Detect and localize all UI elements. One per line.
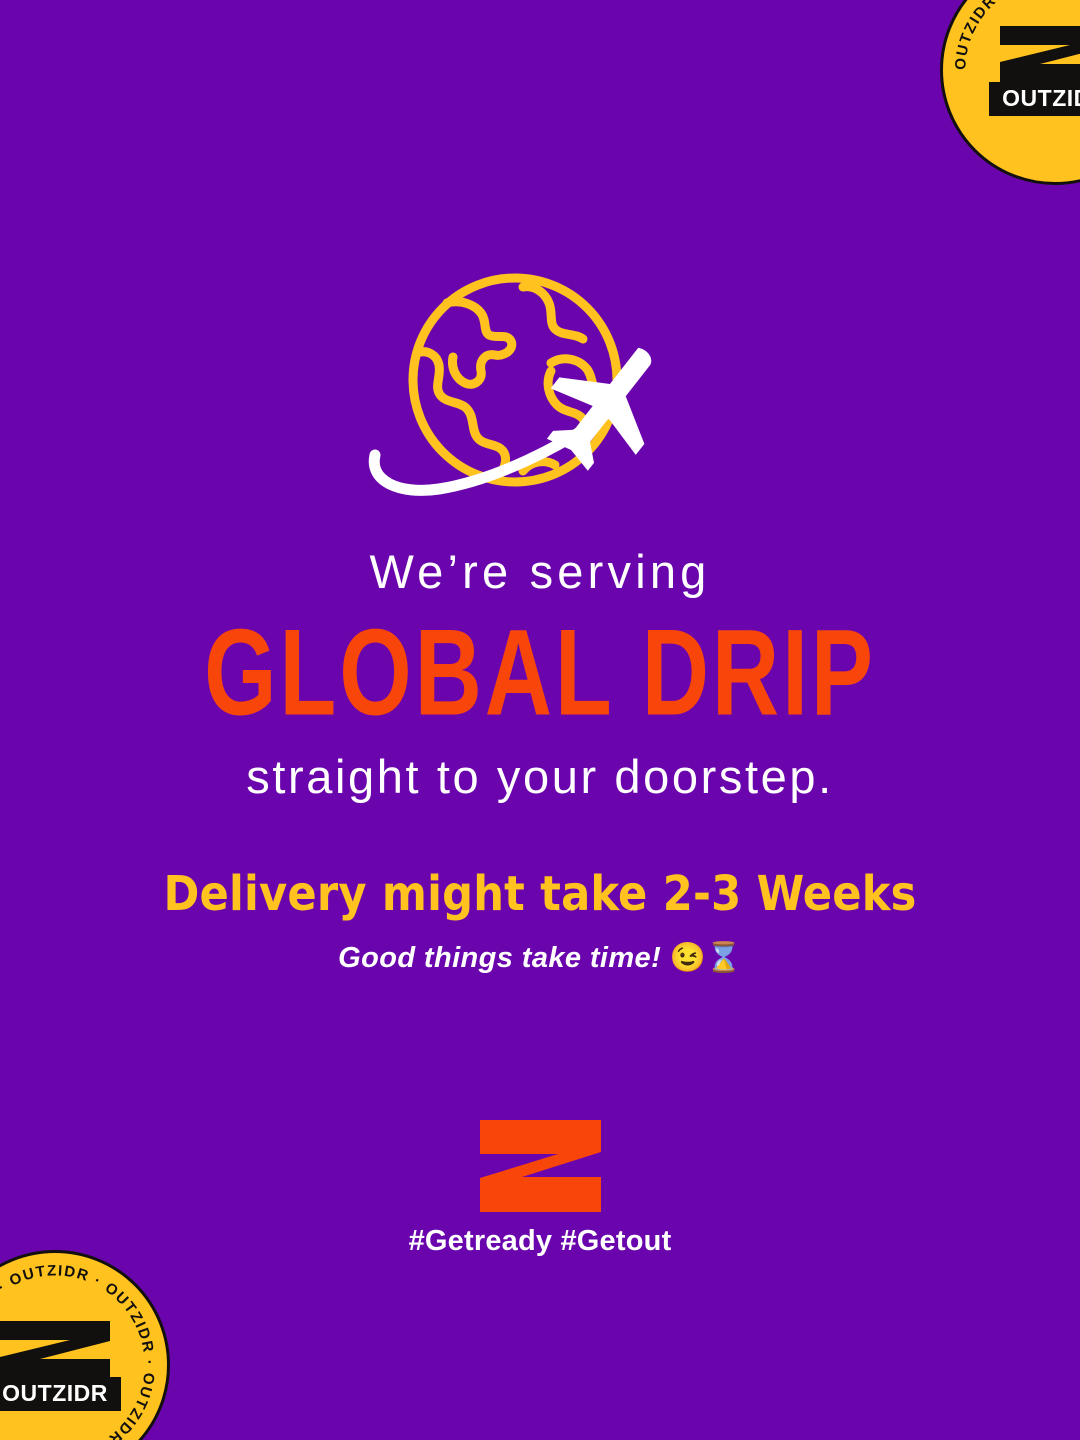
- badge-bottom-left: OUTZIDR · OUTZIDR · OUTZIDR · OUTZIDR · …: [0, 1250, 170, 1440]
- badge-top-right: OUTZIDR · OUTZIDR · OUTZIDR · OUTZIDR · …: [940, 0, 1080, 185]
- footer-brand-lockup: #Getready #Getout: [0, 1120, 1080, 1258]
- tagline-emoji: 😉⌛: [670, 942, 742, 974]
- tagline-text: Good things take time!: [338, 942, 661, 974]
- headline-text: GLOBAL DRIP: [16, 612, 1064, 735]
- badge-z-icon: [0, 1319, 114, 1379]
- badge-wordmark-label: OUTZIDR: [1002, 86, 1080, 111]
- tagline-row: Good things take time! 😉⌛: [0, 944, 1080, 973]
- delivery-notice-text: Delivery might take 2-3 Weeks: [0, 870, 1080, 918]
- headline-copy-block: We’re serving GLOBAL DRIP straight to yo…: [0, 548, 1080, 973]
- badge-core-top-right: OUTZIDR: [989, 24, 1080, 116]
- badge-z-icon: [996, 24, 1080, 84]
- eyebrow-text: We’re serving: [0, 548, 1080, 595]
- badge-core-bottom-left: OUTZIDR: [0, 1319, 121, 1411]
- promo-poster: OUTZIDR · OUTZIDR · OUTZIDR · OUTZIDR · …: [0, 0, 1080, 1440]
- orbit-trail-icon: [374, 415, 605, 490]
- outzidr-z-logo: [478, 1120, 603, 1212]
- subline-text: straight to your doorstep.: [0, 753, 1080, 800]
- badge-wordmark-label: OUTZIDR: [2, 1381, 108, 1406]
- hashtags-text: #Getready #Getout: [0, 1225, 1080, 1258]
- badge-wordmark-bottom-left: OUTZIDR: [0, 1377, 121, 1411]
- globe-airplane-emblem: [355, 275, 715, 515]
- badge-wordmark-top-right: OUTZIDR: [989, 82, 1080, 116]
